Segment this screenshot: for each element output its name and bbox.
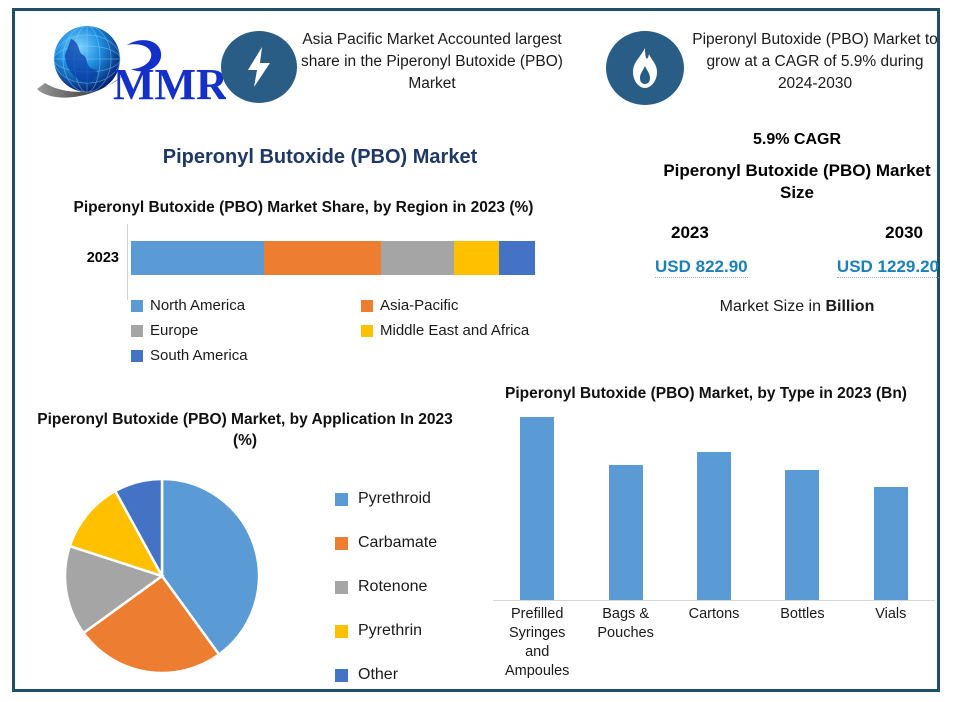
type-label-prefilled-syringes-and-ampoules: Prefilled Syringes and Ampoules (493, 605, 581, 682)
type-column-prefilled-syringes-and-ampoules (493, 417, 581, 600)
region-legend-swatch-asia-pacific (361, 300, 373, 312)
header-band: MMR Asia Pacific Market Accounted larges… (15, 11, 943, 123)
type-category-axis (493, 600, 935, 601)
flame-icon (628, 46, 662, 90)
region-legend-label-north-america: North America (150, 297, 245, 314)
type-label-bottles: Bottles (758, 605, 846, 682)
globe-swoosh-icon: MMR (31, 17, 226, 109)
market-size-unit-note: Market Size in Billion (651, 298, 943, 316)
region-legend-swatch-europe (131, 325, 143, 337)
region-stacked-bar (131, 241, 535, 275)
region-legend-label-south-america: South America (150, 347, 248, 364)
application-legend-label-other: Other (358, 666, 398, 684)
flame-badge (606, 31, 684, 105)
type-bar-prefilled-syringes-and-ampoules (520, 417, 554, 600)
lightning-bolt-badge (221, 31, 297, 103)
region-segment-asia-pacific (264, 241, 381, 275)
outer-frame: MMR Asia Pacific Market Accounted larges… (12, 8, 940, 692)
region-category-label: 2023 (49, 250, 119, 266)
region-legend-swatch-north-america (131, 300, 143, 312)
region-legend-swatch-south-america (131, 350, 143, 362)
header-highlight-2-text: Piperonyl Butoxide (PBO) Market to grow … (687, 29, 943, 95)
region-legend-label-asia-pacific: Asia-Pacific (380, 297, 458, 314)
header-highlight-1-text: Asia Pacific Market Accounted largest sh… (298, 29, 566, 95)
type-column-vials (847, 487, 935, 600)
region-legend-item-north-america: North America (131, 297, 361, 314)
application-legend-swatch-other (335, 669, 348, 682)
region-share-chart: Piperonyl Butoxide (PBO) Market Share, b… (31, 197, 576, 397)
application-legend-label-pyrethrin: Pyrethrin (358, 622, 422, 640)
type-column-bottles (758, 470, 846, 600)
region-plot-area: 2023 (31, 224, 576, 300)
application-legend-item-carbamate: Carbamate (335, 521, 495, 565)
application-pie-area (62, 476, 262, 676)
type-category-labels: Prefilled Syringes and Ampoules Bags & P… (493, 605, 935, 682)
application-legend-item-rotenone: Rotenone (335, 565, 495, 609)
application-share-chart: Piperonyl Butoxide (PBO) Market, by Appl… (35, 409, 495, 699)
mmr-logo: MMR (31, 17, 226, 109)
infographic-canvas: MMR Asia Pacific Market Accounted larges… (0, 0, 957, 702)
type-label-cartons: Cartons (670, 605, 758, 682)
region-segment-middle-east-africa (454, 241, 498, 275)
type-bar-bottles (785, 470, 819, 600)
market-size-values: USD 822.90 USD 1229.20 (651, 257, 943, 278)
application-legend-label-pyrethroid: Pyrethroid (358, 490, 431, 508)
application-chart-title: Piperonyl Butoxide (PBO) Market, by Appl… (35, 409, 455, 452)
type-bar-vials (874, 487, 908, 600)
region-legend-item-south-america: South America (131, 347, 361, 364)
region-legend-swatch-middle-east-africa (361, 325, 373, 337)
region-legend-label-europe: Europe (150, 322, 198, 339)
type-label-vials: Vials (847, 605, 935, 682)
market-size-year-start: 2023 (671, 223, 709, 243)
application-legend-swatch-carbamate (335, 537, 348, 550)
market-size-title: Piperonyl Butoxide (PBO) Market Size (651, 160, 943, 205)
lightning-bolt-icon (242, 45, 276, 89)
region-segment-north-america (131, 241, 264, 275)
application-legend: Pyrethroid Carbamate Rotenone Pyrethrin … (335, 477, 495, 697)
market-size-years: 2023 2030 (651, 223, 943, 243)
application-legend-swatch-pyrethrin (335, 625, 348, 638)
pie-slices (65, 479, 259, 673)
market-size-unit-value: Billion (825, 298, 874, 315)
application-legend-item-pyrethrin: Pyrethrin (335, 609, 495, 653)
region-legend-label-middle-east-africa: Middle East and Africa (380, 322, 529, 339)
market-size-value-start: USD 822.90 (655, 257, 748, 278)
region-legend-item-asia-pacific: Asia-Pacific (361, 297, 576, 314)
cagr-value: 5.9% CAGR (651, 131, 943, 149)
type-share-chart: Piperonyl Butoxide (PBO) Market, by Type… (485, 383, 943, 695)
market-size-unit-prefix: Market Size in (720, 298, 826, 315)
type-column-bags-and-pouches (581, 465, 669, 600)
region-segment-europe (381, 241, 454, 275)
type-chart-title: Piperonyl Butoxide (PBO) Market, by Type… (491, 383, 921, 404)
type-bar-group (493, 411, 935, 600)
region-legend-item-middle-east-africa: Middle East and Africa (361, 322, 576, 339)
market-size-year-end: 2030 (885, 223, 923, 243)
application-legend-swatch-pyrethroid (335, 493, 348, 506)
type-bar-bags-and-pouches (609, 465, 643, 600)
application-legend-label-carbamate: Carbamate (358, 534, 437, 552)
region-legend-item-europe: Europe (131, 322, 361, 339)
application-legend-label-rotenone: Rotenone (358, 578, 427, 596)
region-chart-title: Piperonyl Butoxide (PBO) Market Share, b… (31, 197, 576, 218)
type-plot-area (485, 411, 943, 601)
application-pie-svg (62, 476, 262, 676)
region-legend: North America Asia-Pacific Europe Middle… (131, 293, 576, 368)
region-value-axis (127, 224, 128, 300)
mmr-logo-text: MMR (113, 60, 226, 109)
application-legend-item-pyrethroid: Pyrethroid (335, 477, 495, 521)
page-title: Piperonyl Butoxide (PBO) Market (55, 146, 585, 169)
type-bar-cartons (697, 452, 731, 600)
application-legend-item-other: Other (335, 653, 495, 697)
application-legend-swatch-rotenone (335, 581, 348, 594)
market-size-panel: 5.9% CAGR Piperonyl Butoxide (PBO) Marke… (651, 131, 943, 356)
market-size-value-end: USD 1229.20 (837, 257, 939, 278)
region-segment-south-america (499, 241, 535, 275)
type-column-cartons (670, 452, 758, 600)
type-label-bags-and-pouches: Bags & Pouches (581, 605, 669, 682)
